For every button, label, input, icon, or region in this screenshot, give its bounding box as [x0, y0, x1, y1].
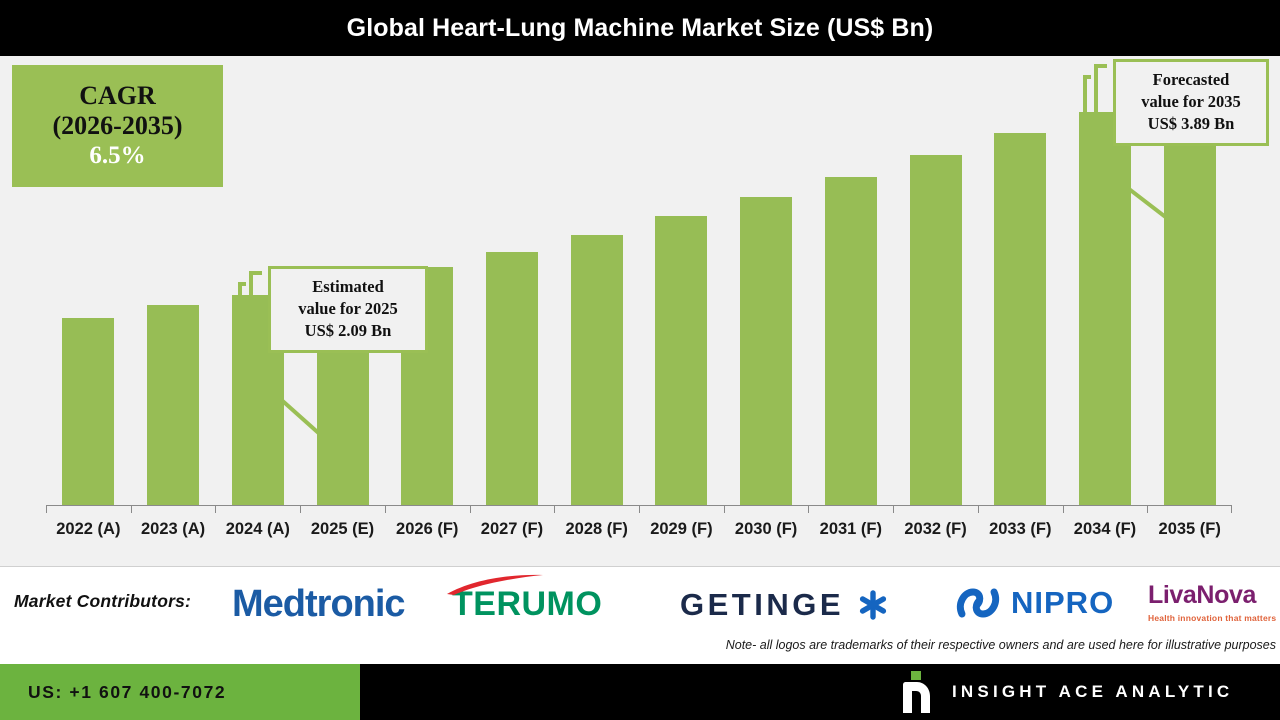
bar-2022[interactable]: [62, 318, 114, 505]
bar-2023[interactable]: [147, 305, 199, 505]
footer-bar: US: +1 607 400-7072 INSIGHT ACE ANALYTIC: [0, 664, 1280, 720]
title-bar: Global Heart-Lung Machine Market Size (U…: [0, 0, 1280, 56]
callout-forecast-2035: Forecasted value for 2035 US$ 3.89 Bn: [1113, 59, 1269, 146]
x-tick: [1147, 505, 1232, 513]
x-label-2034: 2034 (F): [1063, 516, 1148, 546]
footer-phone[interactable]: US: +1 607 400-7072: [28, 682, 226, 703]
logo-nipro: NIPRO: [955, 585, 1114, 621]
bar-series: [46, 56, 1232, 505]
x-tick: [300, 505, 385, 513]
bar-2030[interactable]: [740, 197, 792, 505]
x-label-2027: 2027 (F): [470, 516, 555, 546]
logo-nipro-text: NIPRO: [1011, 585, 1114, 621]
bar-2029[interactable]: [655, 216, 707, 505]
bar-2033[interactable]: [994, 133, 1046, 505]
footer-brand-block: INSIGHT ACE ANALYTIC: [900, 664, 1233, 720]
x-tick: [554, 505, 639, 513]
logo-terumo: TERUMO: [452, 585, 602, 624]
x-label-2033: 2033 (F): [978, 516, 1063, 546]
x-tick: [215, 505, 300, 513]
nipro-mark-icon: [955, 587, 1001, 619]
x-tick: [808, 505, 893, 513]
logo-getinge: GETINGE: [680, 587, 888, 623]
logo-livanova: LivaNova Health innovation that matters: [1148, 583, 1276, 623]
x-label-2035: 2035 (F): [1147, 516, 1232, 546]
bar-2028[interactable]: [571, 235, 623, 505]
bar-slot: [554, 56, 639, 505]
callout-forecast-line3: US$ 3.89 Bn: [1128, 113, 1254, 135]
bar-slot: [131, 56, 216, 505]
callout-estimated-2025: Estimated value for 2025 US$ 2.09 Bn: [268, 266, 428, 353]
bar-2031[interactable]: [825, 177, 877, 505]
x-label-2028: 2028 (F): [554, 516, 639, 546]
terumo-swoosh-icon: [446, 574, 546, 596]
callout-forecast-line1: Forecasted: [1128, 69, 1254, 91]
logo-livanova-text: LivaNova: [1148, 583, 1276, 608]
footer-brand-name: INSIGHT ACE ANALYTIC: [952, 682, 1233, 702]
logo-livanova-tagline: Health innovation that matters: [1148, 613, 1276, 623]
chart-panel: CAGR (2026-2035) 6.5% 2022 (A)2023 (A)20…: [0, 56, 1280, 566]
trademark-note: Note- all logos are trademarks of their …: [726, 638, 1276, 652]
x-tick: [385, 505, 470, 513]
callout-forecast-line2: value for 2035: [1128, 91, 1254, 113]
x-tick: [724, 505, 809, 513]
x-axis-labels: 2022 (A)2023 (A)2024 (A)2025 (E)2026 (F)…: [46, 516, 1232, 546]
bar-slot: [724, 56, 809, 505]
bar-slot: [639, 56, 724, 505]
page-title: Global Heart-Lung Machine Market Size (U…: [347, 14, 934, 43]
plot-area: [46, 56, 1232, 505]
callout-estimated-line2: value for 2025: [283, 298, 413, 320]
bar-slot: [808, 56, 893, 505]
bar-slot: [46, 56, 131, 505]
logo-getinge-text: GETINGE: [680, 587, 844, 623]
bar-2035[interactable]: [1164, 89, 1216, 505]
x-tick: [978, 505, 1063, 513]
x-tick: [1063, 505, 1148, 513]
x-label-2022: 2022 (A): [46, 516, 131, 546]
bar-slot: [893, 56, 978, 505]
x-label-2029: 2029 (F): [639, 516, 724, 546]
x-label-2025: 2025 (E): [300, 516, 385, 546]
callout-estimated-box: Estimated value for 2025 US$ 2.09 Bn: [268, 266, 428, 353]
x-label-2026: 2026 (F): [385, 516, 470, 546]
x-tick: [470, 505, 555, 513]
callout-estimated-line3: US$ 2.09 Bn: [283, 320, 413, 342]
callout-estimated-line1: Estimated: [283, 276, 413, 298]
bar-2027[interactable]: [486, 252, 538, 505]
footer-contact-block: US: +1 607 400-7072: [0, 664, 360, 720]
x-label-2023: 2023 (A): [131, 516, 216, 546]
callout-forecast-box: Forecasted value for 2035 US$ 3.89 Bn: [1113, 59, 1269, 146]
market-contributors-strip: Market Contributors: Medtronic TERUMO GE…: [0, 566, 1280, 664]
getinge-asterisk-icon: [858, 590, 888, 620]
infographic-page: Global Heart-Lung Machine Market Size (U…: [0, 0, 1280, 720]
bar-slot: [470, 56, 555, 505]
bar-slot: [978, 56, 1063, 505]
bar-2034[interactable]: [1079, 112, 1131, 505]
x-label-2032: 2032 (F): [893, 516, 978, 546]
bar-2032[interactable]: [910, 155, 962, 505]
x-label-2024: 2024 (A): [215, 516, 300, 546]
logo-medtronic-text: Medtronic: [232, 583, 405, 626]
x-label-2031: 2031 (F): [808, 516, 893, 546]
x-axis-ticks: [46, 505, 1232, 513]
market-contributors-label: Market Contributors:: [14, 591, 191, 612]
insightace-logo-icon: [900, 671, 934, 713]
x-tick: [46, 505, 131, 513]
x-tick: [893, 505, 978, 513]
x-tick: [639, 505, 724, 513]
x-label-2030: 2030 (F): [724, 516, 809, 546]
x-tick: [131, 505, 216, 513]
logo-medtronic: Medtronic: [232, 583, 405, 626]
